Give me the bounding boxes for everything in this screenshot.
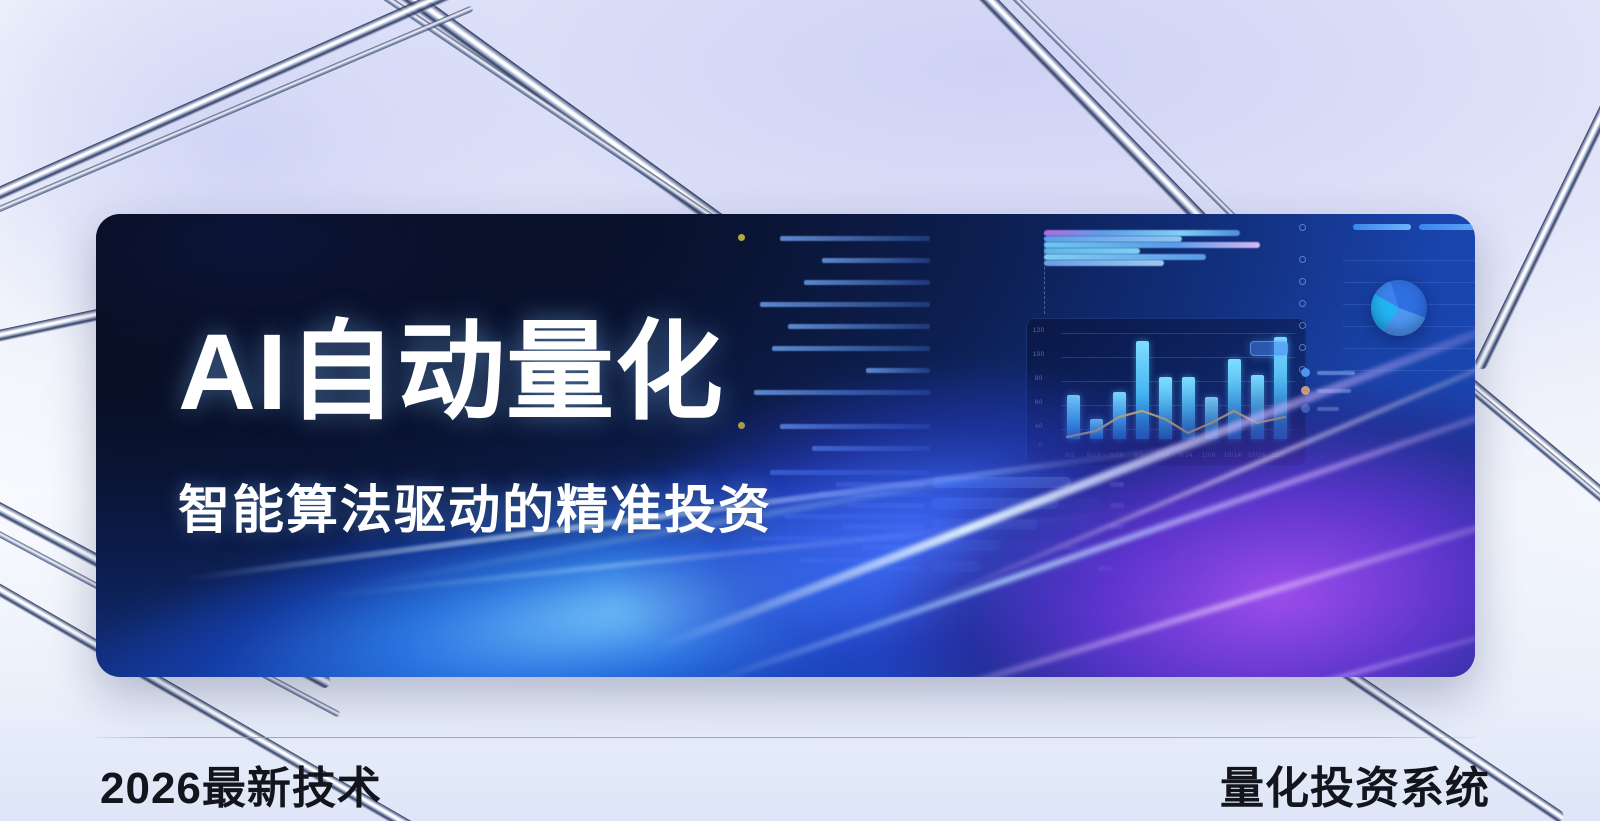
hero-subtitle: 智能算法驱动的精准投资 xyxy=(178,468,772,543)
footer-right-label: 量化投资系统 xyxy=(1220,752,1490,816)
footer-left-label: 2026最新技术 xyxy=(100,752,382,816)
hero-title: AI自动量化 xyxy=(178,316,724,428)
footer-divider xyxy=(96,737,1476,738)
hero-banner-card: 120 100 80 60 40 0 8/3 8/13 8/28 9/5 xyxy=(96,214,1475,677)
poster-canvas: 120 100 80 60 40 0 8/3 8/13 8/28 9/5 xyxy=(0,0,1600,821)
